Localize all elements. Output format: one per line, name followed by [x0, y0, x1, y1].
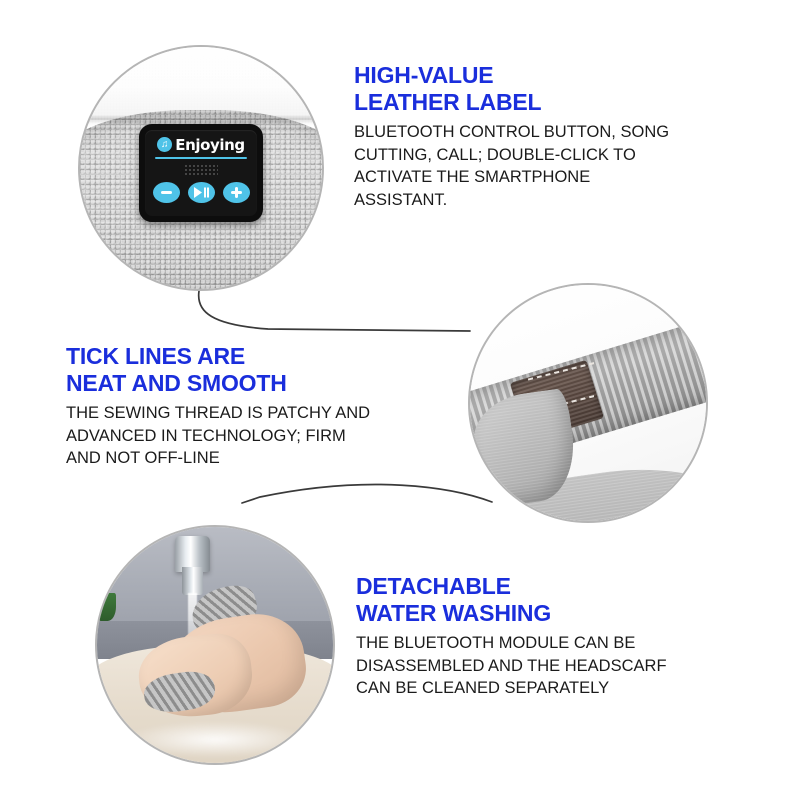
- water-foam: [121, 721, 310, 759]
- knit-fabric-scene: ♫ Enjoying: [80, 47, 322, 289]
- photo-leather-label: ♫ Enjoying: [78, 45, 324, 291]
- feature-text-leather-label: HIGH-VALUE LEATHER LABEL BLUETOOTH CONTR…: [354, 62, 726, 211]
- control-button-row: [153, 182, 250, 203]
- feature-heading: DETACHABLE WATER WASHING: [356, 573, 716, 626]
- feature-text-water-washing: DETACHABLE WATER WASHING THE BLUETOOTH M…: [356, 573, 716, 700]
- plant-decor: [99, 593, 116, 621]
- washing-scene: [97, 527, 333, 763]
- feature-body: THE BLUETOOTH MODULE CAN BE DISASSEMBLED…: [356, 632, 716, 699]
- connector-label-to-stitch: [199, 291, 470, 331]
- photo-stitching-detail: [468, 283, 708, 523]
- volume-down-button[interactable]: [153, 182, 180, 203]
- speaker-grille-icon: [184, 164, 218, 177]
- connector-stitch-to-wash: [242, 484, 492, 503]
- feature-body: THE SEWING THREAD IS PATCHY AND ADVANCED…: [66, 402, 396, 469]
- feature-body: BLUETOOTH CONTROL BUTTON, SONG CUTTING, …: [354, 121, 726, 211]
- volume-up-button[interactable]: [223, 182, 250, 203]
- feature-heading: TICK LINES ARE NEAT AND SMOOTH: [66, 343, 396, 396]
- feature-heading: HIGH-VALUE LEATHER LABEL: [354, 62, 726, 115]
- brand-name: Enjoying: [175, 136, 245, 154]
- stitching-scene: [470, 285, 706, 521]
- brand-lockup: ♫ Enjoying: [157, 136, 245, 154]
- leather-control-label: ♫ Enjoying: [139, 124, 263, 222]
- brand-divider: [155, 157, 247, 159]
- feature-text-tick-lines: TICK LINES ARE NEAT AND SMOOTH THE SEWIN…: [66, 343, 396, 470]
- play-pause-button[interactable]: [188, 182, 215, 203]
- music-note-icon: ♫: [157, 137, 172, 152]
- photo-water-washing: [95, 525, 335, 765]
- faucet-spout: [182, 567, 203, 595]
- infographic-stage: ♫ Enjoying: [0, 0, 800, 800]
